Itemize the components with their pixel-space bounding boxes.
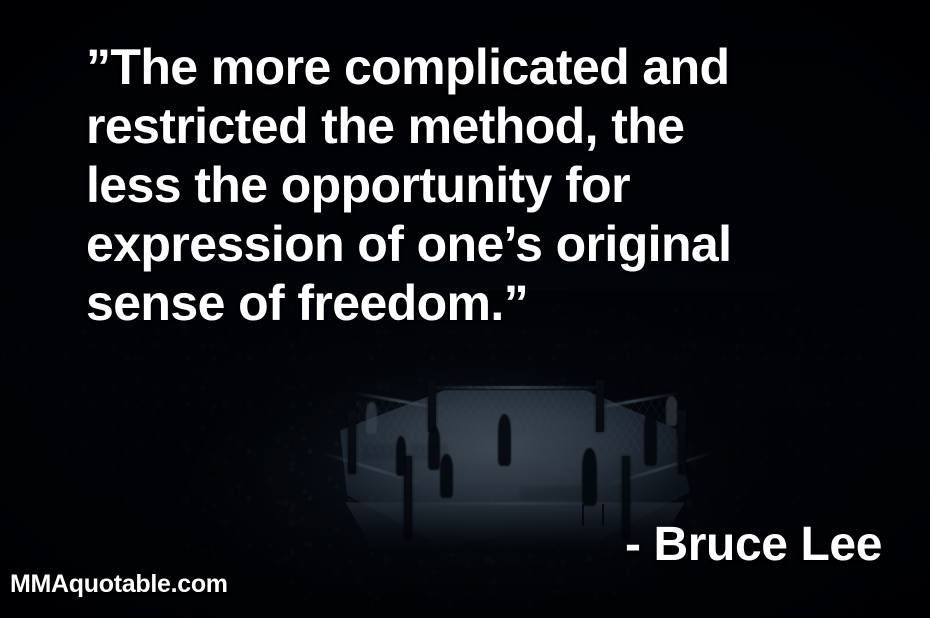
- quote-line-1: ”The more complicated and: [86, 38, 898, 97]
- site-watermark: MMAquotable.com: [10, 570, 228, 599]
- quote-line-4: expression of one’s original: [86, 215, 898, 274]
- quote-line-5: sense of freedom.”: [86, 274, 898, 333]
- quote-card: ”The more complicated and restricted the…: [0, 0, 930, 618]
- quote-line-3: less the opportunity for: [86, 156, 898, 215]
- quote-text-block: ”The more complicated and restricted the…: [86, 38, 898, 333]
- quote-line-2: restricted the method, the: [86, 97, 898, 156]
- quote-attribution: - Bruce Lee: [625, 519, 882, 571]
